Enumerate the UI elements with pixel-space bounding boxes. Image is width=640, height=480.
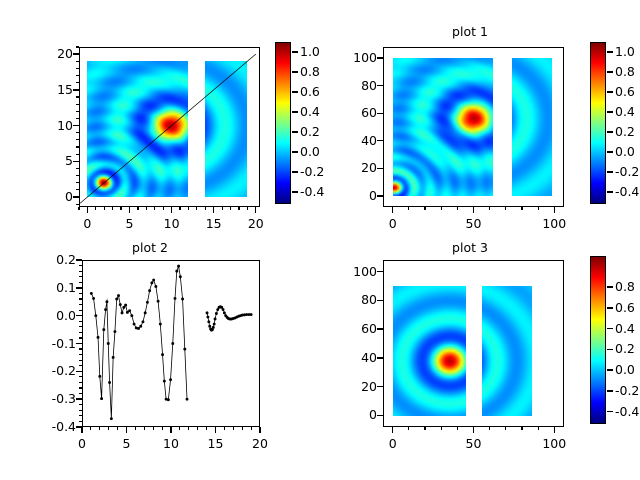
axis-tick [73, 196, 79, 197]
axis-tick [424, 427, 425, 430]
axis-tick-label: 10 [33, 118, 73, 133]
colorbar-tick-label: -0.2 [615, 164, 640, 179]
axis-tick [408, 207, 409, 210]
axis-tick [79, 276, 82, 277]
axis-tick-label: 0.1 [36, 280, 76, 295]
axis-tick [154, 207, 155, 210]
plot1-colorbar [590, 42, 606, 204]
axis-tick [607, 91, 613, 92]
heatmap-image-block [393, 286, 466, 416]
axis-tick-label: 60 [337, 105, 377, 120]
axis-tick [607, 191, 613, 192]
axis-tick [73, 161, 79, 162]
axis-tick-label: 5 [105, 436, 149, 451]
axis-tick [79, 365, 82, 366]
axis-tick-label: 20 [337, 160, 377, 175]
axis-tick [222, 207, 223, 210]
axis-tick-label: 50 [452, 436, 496, 451]
diagonal-overlay-line [80, 48, 259, 206]
axis-tick [505, 207, 506, 210]
axis-tick [76, 175, 79, 176]
axis-tick [120, 207, 121, 210]
axis-tick-label: 0 [33, 189, 73, 204]
axis-tick [73, 125, 79, 126]
plot0-colorbar [275, 42, 291, 204]
colorbar-tick-label: 0.4 [615, 104, 640, 119]
axis-tick [81, 427, 82, 433]
axis-tick [230, 207, 231, 210]
axis-tick-label: 80 [337, 292, 377, 307]
axis-tick [76, 168, 79, 169]
axis-tick [392, 207, 393, 213]
axis-tick [135, 427, 136, 430]
axis-tick [76, 146, 79, 147]
colorbar-tick-label: -0.2 [615, 383, 640, 398]
axis-tick-label: 100 [337, 264, 377, 279]
plot1-title: plot 1 [360, 24, 580, 39]
colorbar-tick-label: 0.2 [615, 124, 640, 139]
colorbar-tick-label: 0.6 [615, 300, 640, 315]
axis-tick [171, 207, 172, 213]
axis-tick-label: 80 [337, 78, 377, 93]
axis-tick-label: -0.2 [36, 363, 76, 378]
axis-tick [79, 393, 82, 394]
axis-tick [87, 207, 88, 213]
axis-tick [79, 354, 82, 355]
axis-tick [457, 207, 458, 210]
axis-tick-label: 60 [337, 321, 377, 336]
axis-tick [79, 337, 82, 338]
axis-tick [607, 71, 613, 72]
axis-tick [377, 415, 383, 416]
axis-tick [489, 427, 490, 430]
axis-tick [90, 427, 91, 430]
axis-tick [377, 57, 383, 58]
axis-tick [206, 427, 207, 430]
axis-tick [73, 53, 79, 54]
axis-tick [146, 207, 147, 210]
axis-tick [607, 390, 613, 391]
axis-tick [521, 427, 522, 430]
axis-tick [126, 427, 127, 433]
axis-tick [79, 304, 82, 305]
axis-tick [607, 307, 613, 308]
axis-tick [79, 310, 82, 311]
axis-tick [377, 168, 383, 169]
subplot-top-left: 0510152005101520-0.4-0.20.00.20.40.60.81… [0, 0, 320, 240]
axis-tick [117, 427, 118, 430]
axis-tick [607, 171, 613, 172]
colorbar-tick-label: 1.0 [615, 44, 640, 59]
axis-tick [408, 427, 409, 430]
axis-tick [79, 382, 82, 383]
heatmap-image-block [482, 286, 532, 416]
colorbar-tick-label: 0.0 [615, 362, 640, 377]
axis-tick [473, 207, 474, 213]
axis-tick-label: 10 [150, 216, 194, 231]
axis-tick [76, 139, 79, 140]
axis-tick [538, 207, 539, 210]
axis-tick-label: 15 [194, 436, 238, 451]
heatmap-image-block [393, 58, 493, 196]
axis-tick [108, 427, 109, 430]
axis-tick-label: 5 [108, 216, 152, 231]
axis-tick [76, 204, 79, 205]
axis-tick [76, 104, 79, 105]
axis-tick [607, 369, 613, 370]
axis-tick-label: 10 [149, 436, 193, 451]
axis-tick-label: 40 [337, 350, 377, 365]
axis-tick [538, 427, 539, 430]
axis-tick [607, 111, 613, 112]
axis-tick [292, 191, 298, 192]
axis-tick-label: 40 [337, 133, 377, 148]
axis-tick [76, 46, 79, 47]
axis-tick [607, 151, 613, 152]
axis-tick-label: 0 [371, 436, 415, 451]
axis-tick [79, 348, 82, 349]
axis-tick [79, 332, 82, 333]
axis-tick [213, 207, 214, 213]
axis-tick [489, 207, 490, 210]
axis-tick [607, 51, 613, 52]
axis-tick [79, 293, 82, 294]
axis-tick [554, 427, 555, 433]
axis-tick [76, 96, 79, 97]
colorbar-tick-label: 0.4 [615, 321, 640, 336]
axis-tick [79, 282, 82, 283]
axis-tick-label: 100 [532, 216, 576, 231]
axis-tick [259, 427, 260, 433]
axis-tick-label: 50 [452, 216, 496, 231]
axis-tick [377, 386, 383, 387]
axis-tick [224, 427, 225, 430]
axis-tick-label: 20 [337, 379, 377, 394]
axis-tick [144, 427, 145, 430]
axis-tick-label: -0.1 [36, 336, 76, 351]
line-series-canvas [83, 261, 259, 430]
axis-tick [377, 328, 383, 329]
axis-tick-label: 5 [33, 153, 73, 168]
axis-tick [76, 182, 79, 183]
axis-tick-label: 20 [238, 436, 282, 451]
axis-tick [424, 207, 425, 210]
axis-tick [554, 207, 555, 213]
axis-tick [238, 207, 239, 210]
axis-tick [76, 315, 82, 316]
subplot-bottom-left: plot 2 -0.4-0.3-0.2-0.10.00.10.205101520 [0, 240, 320, 480]
axis-tick [607, 131, 613, 132]
axis-tick-label: 100 [532, 436, 576, 451]
colorbar-tick-label: 0.6 [615, 84, 640, 99]
axis-tick-label: -0.4 [36, 419, 76, 434]
colorbar-tick-label: 0.2 [615, 341, 640, 356]
plot3-colorbar-gradient [591, 257, 605, 423]
axis-tick [377, 195, 383, 196]
axis-tick [233, 427, 234, 430]
axis-tick [76, 132, 79, 133]
axis-tick [76, 75, 79, 76]
plot0-colorbar-gradient [276, 43, 290, 203]
axis-tick [99, 427, 100, 430]
axis-tick [377, 140, 383, 141]
axis-tick [79, 415, 82, 416]
axis-tick [76, 111, 79, 112]
axis-tick [179, 207, 180, 210]
axis-tick [79, 321, 82, 322]
axis-tick [79, 326, 82, 327]
axis-tick [76, 189, 79, 190]
axis-tick [163, 207, 164, 210]
axis-tick [441, 207, 442, 210]
axis-tick [292, 131, 298, 132]
axis-tick [521, 207, 522, 210]
subplot-bottom-right: plot 3 020406080100050100-0.4-0.20.00.20… [320, 240, 640, 480]
axis-tick [607, 286, 613, 287]
axis-tick [76, 287, 82, 288]
axis-tick [170, 427, 171, 433]
axis-tick [242, 427, 243, 430]
axis-tick [292, 111, 298, 112]
axis-tick [292, 171, 298, 172]
figure-canvas: 0510152005101520-0.4-0.20.00.20.40.60.81… [0, 0, 640, 480]
axis-tick [607, 411, 613, 412]
axis-tick [255, 207, 256, 213]
axis-tick [153, 427, 154, 430]
axis-tick [607, 349, 613, 350]
axis-tick [292, 151, 298, 152]
axis-tick [76, 82, 79, 83]
axis-tick [377, 271, 383, 272]
colorbar-tick-label: 0.8 [615, 279, 640, 294]
axis-tick [137, 207, 138, 210]
plot3-colorbar [590, 256, 606, 424]
axis-tick [76, 259, 82, 260]
colorbar-tick-label: -0.4 [615, 404, 640, 419]
axis-tick [292, 71, 298, 72]
axis-tick [392, 427, 393, 433]
axis-tick-label: 20 [234, 216, 278, 231]
axis-tick [197, 427, 198, 430]
colorbar-tick-label: 0.8 [615, 64, 640, 79]
axis-tick-label: 0 [337, 407, 377, 422]
axis-tick [79, 298, 82, 299]
axis-tick [76, 371, 82, 372]
axis-tick [188, 207, 189, 210]
axis-tick [76, 343, 82, 344]
axis-tick-label: 0 [337, 188, 377, 203]
axis-tick-label: 0.0 [36, 308, 76, 323]
axis-tick [505, 427, 506, 430]
axis-tick-label: 0 [371, 216, 415, 231]
axis-tick [76, 154, 79, 155]
axis-tick [292, 51, 298, 52]
axis-tick [251, 427, 252, 430]
axis-tick [607, 328, 613, 329]
axis-tick [73, 89, 79, 90]
axis-tick [377, 113, 383, 114]
axis-tick [205, 207, 206, 210]
axis-tick [215, 427, 216, 433]
axis-tick-label: 100 [337, 50, 377, 65]
axis-tick-label: 15 [33, 82, 73, 97]
axis-tick [76, 398, 82, 399]
axis-tick-label: -0.3 [36, 391, 76, 406]
axis-tick [76, 68, 79, 69]
axis-tick [377, 357, 383, 358]
colorbar-tick-label: -0.4 [615, 184, 640, 199]
axis-tick [79, 387, 82, 388]
subplot-top-right: plot 1 020406080100050100-0.4-0.20.00.20… [320, 0, 640, 240]
axis-tick [79, 404, 82, 405]
colorbar-tick-label: 0.0 [615, 144, 640, 159]
axis-tick [104, 207, 105, 210]
axis-tick [79, 376, 82, 377]
axis-tick [162, 427, 163, 430]
axis-tick [79, 421, 82, 422]
axis-tick [247, 207, 248, 210]
plot1-colorbar-gradient [591, 43, 605, 203]
axis-tick-label: 15 [192, 216, 236, 231]
axis-tick-label: 20 [33, 46, 73, 61]
axis-tick [78, 207, 79, 210]
axis-tick [95, 207, 96, 210]
plot3-title: plot 3 [360, 240, 580, 255]
axis-tick [79, 265, 82, 266]
axis-tick [292, 91, 298, 92]
axis-tick [76, 61, 79, 62]
axis-tick [76, 118, 79, 119]
axis-tick [188, 427, 189, 430]
axis-tick [79, 271, 82, 272]
axis-tick [457, 427, 458, 430]
axis-tick [129, 207, 130, 213]
axis-tick-label: 0 [60, 436, 104, 451]
axis-tick [179, 427, 180, 430]
axis-tick [112, 207, 113, 210]
axis-tick-label: 0.2 [36, 252, 76, 267]
heatmap-image-block [512, 58, 552, 196]
axis-tick [473, 427, 474, 433]
axis-tick [196, 207, 197, 210]
axis-tick-label: 0 [65, 216, 109, 231]
axis-tick [441, 427, 442, 430]
axis-tick [377, 300, 383, 301]
axis-tick [79, 410, 82, 411]
axis-tick [79, 360, 82, 361]
axis-tick [377, 85, 383, 86]
